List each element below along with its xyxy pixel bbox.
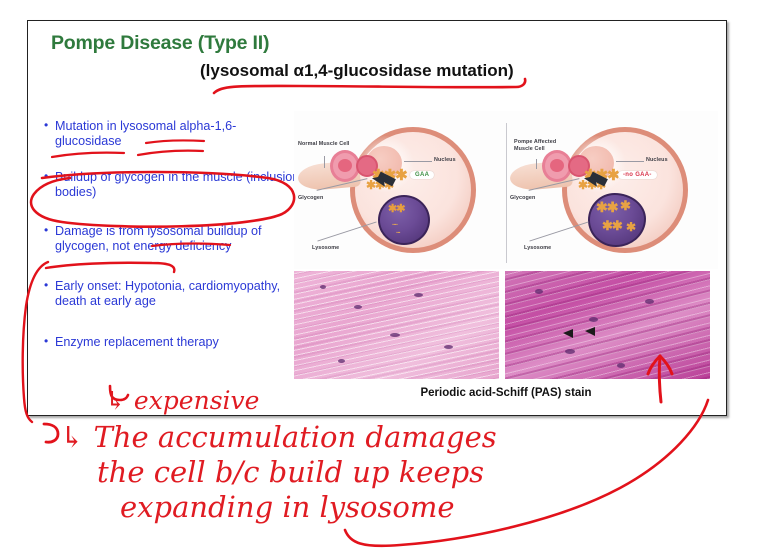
cell-diagram-pair: ✱✱✱ ✱✱✱ GAA ✱✱ ···· ··· Normal Muscle Ce… — [294, 111, 718, 269]
inclusion-arrowheads-icon — [505, 271, 710, 379]
page-title: Pompe Disease (Type II) — [51, 32, 269, 55]
lysosome-label: Lysosome — [312, 245, 339, 252]
figure-block: ✱✱✱ ✱✱✱ GAA ✱✱ ···· ··· Normal Muscle Ce… — [294, 111, 718, 406]
handwriting-line-3: expanding in lysosome — [120, 490, 455, 524]
handwriting-line-2: the cell b/c build up keeps — [97, 455, 484, 489]
histology-images — [294, 271, 718, 379]
nucleus-label: Nucleus — [646, 157, 668, 164]
list-item: Mutation in lysosomal alpha-1,6-glucosid… — [42, 119, 300, 148]
normal-cell-label: Normal Muscle Cell — [298, 141, 350, 148]
handwriting-line-1: ↳ The accumulation damages — [60, 420, 497, 454]
pompe-cell-label: Pompe Affected Muscle Cell — [514, 139, 556, 153]
list-item: Damage is from lysosomal buildup of glyc… — [42, 224, 300, 253]
lysosome-label: Lysosome — [524, 245, 551, 252]
slide-subtitle: (lysosomal α1,4-glucosidase mutation) — [200, 61, 514, 81]
leader-line — [616, 161, 644, 162]
list-item: Enzyme replacement therapy — [42, 335, 300, 350]
enzyme-arrow-head-icon — [584, 176, 597, 189]
histology-normal-image — [294, 271, 499, 379]
glycogen-label: Glycogen — [298, 195, 323, 202]
normal-cell-diagram: ✱✱✱ ✱✱✱ GAA ✱✱ ···· ··· Normal Muscle Ce… — [294, 111, 506, 269]
pompe-cell-diagram: ✱✱✱ ✱✱✱ -no GAA- ✱✱ ✱ ✱✱ ✱ Pompe Affecte… — [506, 111, 718, 269]
list-item: Buildup of glycogen in the muscle (inclu… — [42, 170, 300, 199]
glycogen-label: Glycogen — [510, 195, 535, 202]
enzyme-arrow-head-icon — [372, 176, 385, 189]
leader-line — [536, 159, 537, 169]
no-gaa-enzyme-chip: -no GAA- — [618, 171, 657, 179]
arrow-note-hook — [44, 424, 58, 442]
slide-canvas: Pompe Disease (Type II) (lysosomal α1,4-… — [0, 0, 779, 560]
gaa-enzyme-chip: GAA — [410, 171, 434, 179]
handwriting-expensive: ↳ expensive — [105, 386, 259, 415]
lysosome-icon: ✱✱ ···· ··· — [378, 195, 430, 245]
leader-line — [324, 156, 325, 168]
list-item: Early onset: Hypotonia, cardiomyopathy, … — [42, 279, 300, 308]
slide-frame: Pompe Disease (Type II) (lysosomal α1,4-… — [27, 20, 727, 416]
histology-pompe-image — [505, 271, 710, 379]
figure-caption: Periodic acid-Schiff (PAS) stain — [294, 387, 718, 399]
leader-line — [404, 161, 432, 162]
nucleus-label: Nucleus — [434, 157, 456, 164]
bullet-list: Mutation in lysosomal alpha-1,6-glucosid… — [42, 119, 310, 369]
